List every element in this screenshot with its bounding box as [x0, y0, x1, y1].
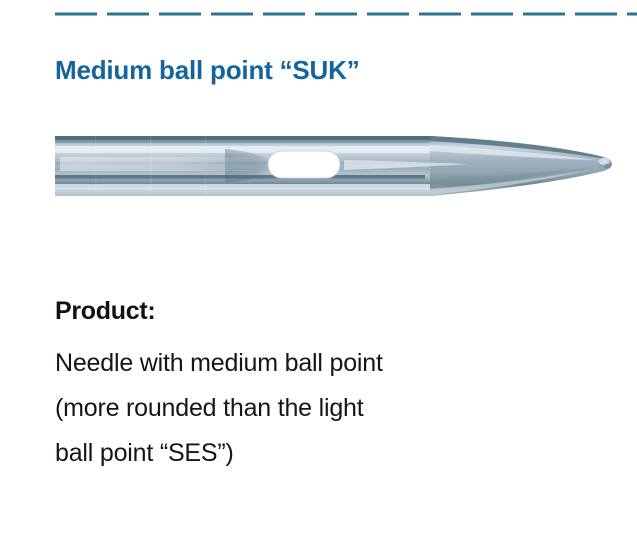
description-line-3: ball point “SES”): [55, 431, 595, 476]
dashed-rule: [55, 11, 637, 17]
needle-eye: [268, 151, 340, 178]
page-title: Medium ball point “SUK”: [55, 55, 360, 86]
product-description: Needle with medium ball point (more roun…: [55, 341, 595, 476]
description-line-2: (more rounded than the light: [55, 386, 595, 431]
dashed-rule-graphic: [55, 11, 637, 17]
description-line-1: Needle with medium ball point: [55, 341, 595, 386]
needle-body: [55, 136, 614, 196]
product-label: Product:: [55, 297, 155, 326]
needle-image: [0, 118, 637, 218]
needle-figure: [0, 118, 637, 218]
